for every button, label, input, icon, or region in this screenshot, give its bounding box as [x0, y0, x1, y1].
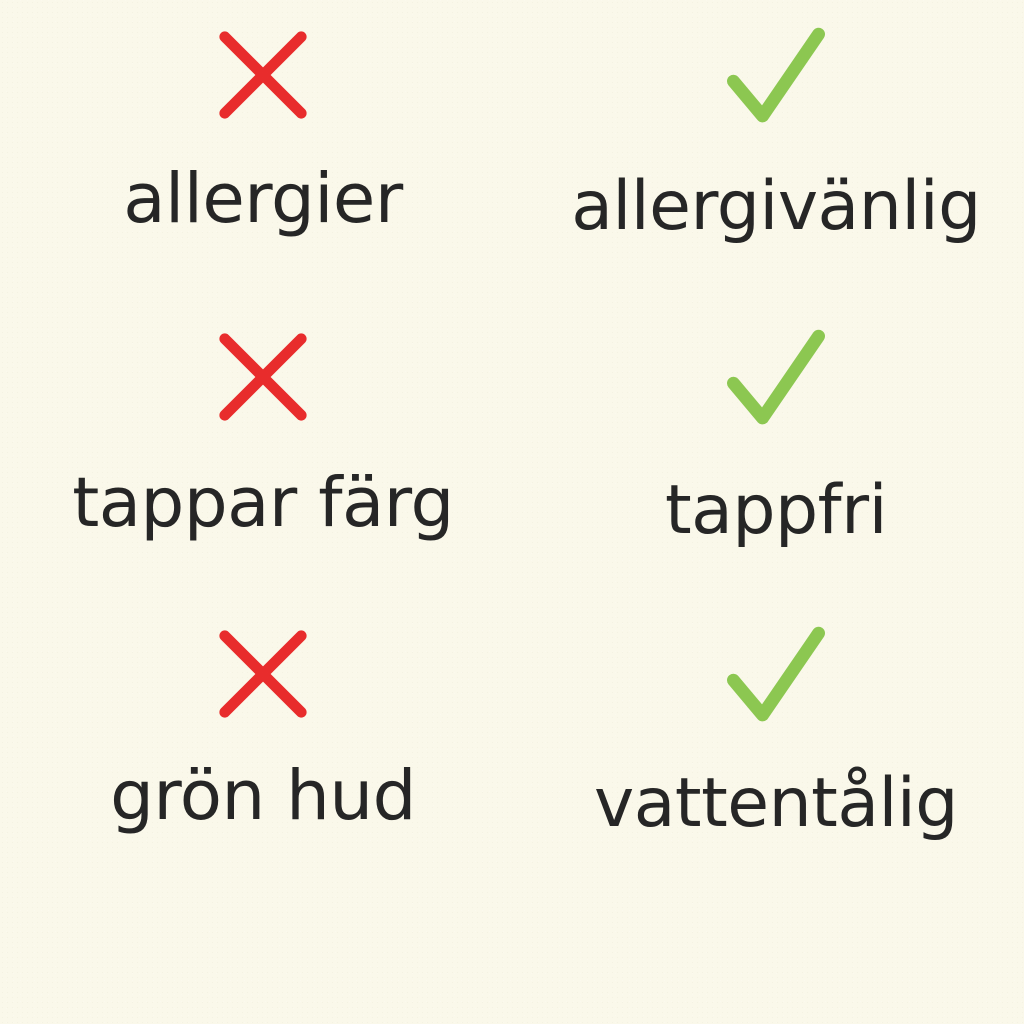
comparison-label-negative-2: tappar färg	[72, 469, 454, 538]
comparison-cell-positive-1: allergivänlig	[512, 0, 1024, 300]
comparison-label-negative-3: grön hud	[110, 762, 416, 831]
check-icon	[720, 325, 832, 437]
comparison-poster: allergier allergivänlig tappar färg	[0, 0, 1024, 1024]
icon-slot	[214, 23, 312, 127]
comparison-label-positive-2: tappfri	[665, 477, 887, 545]
icon-slot	[720, 23, 832, 135]
cross-icon	[214, 328, 312, 426]
icon-slot	[214, 622, 312, 726]
check-icon	[720, 23, 832, 135]
comparison-grid: allergier allergivänlig tappar färg	[0, 0, 1024, 900]
comparison-cell-negative-2: tappar färg	[0, 300, 512, 600]
comparison-cell-negative-1: allergier	[0, 0, 512, 300]
comparison-cell-negative-3: grön hud	[0, 600, 512, 900]
comparison-cell-positive-3: vattentålig	[512, 600, 1024, 900]
check-icon	[720, 622, 832, 734]
comparison-label-positive-1: allergivänlig	[571, 173, 981, 241]
cross-icon	[214, 625, 312, 723]
icon-slot	[720, 622, 832, 734]
icon-slot	[720, 325, 832, 437]
comparison-label-negative-1: allergier	[123, 165, 403, 234]
icon-slot	[214, 325, 312, 429]
comparison-cell-positive-2: tappfri	[512, 300, 1024, 600]
comparison-label-positive-3: vattentålig	[594, 770, 958, 838]
cross-icon	[214, 26, 312, 124]
